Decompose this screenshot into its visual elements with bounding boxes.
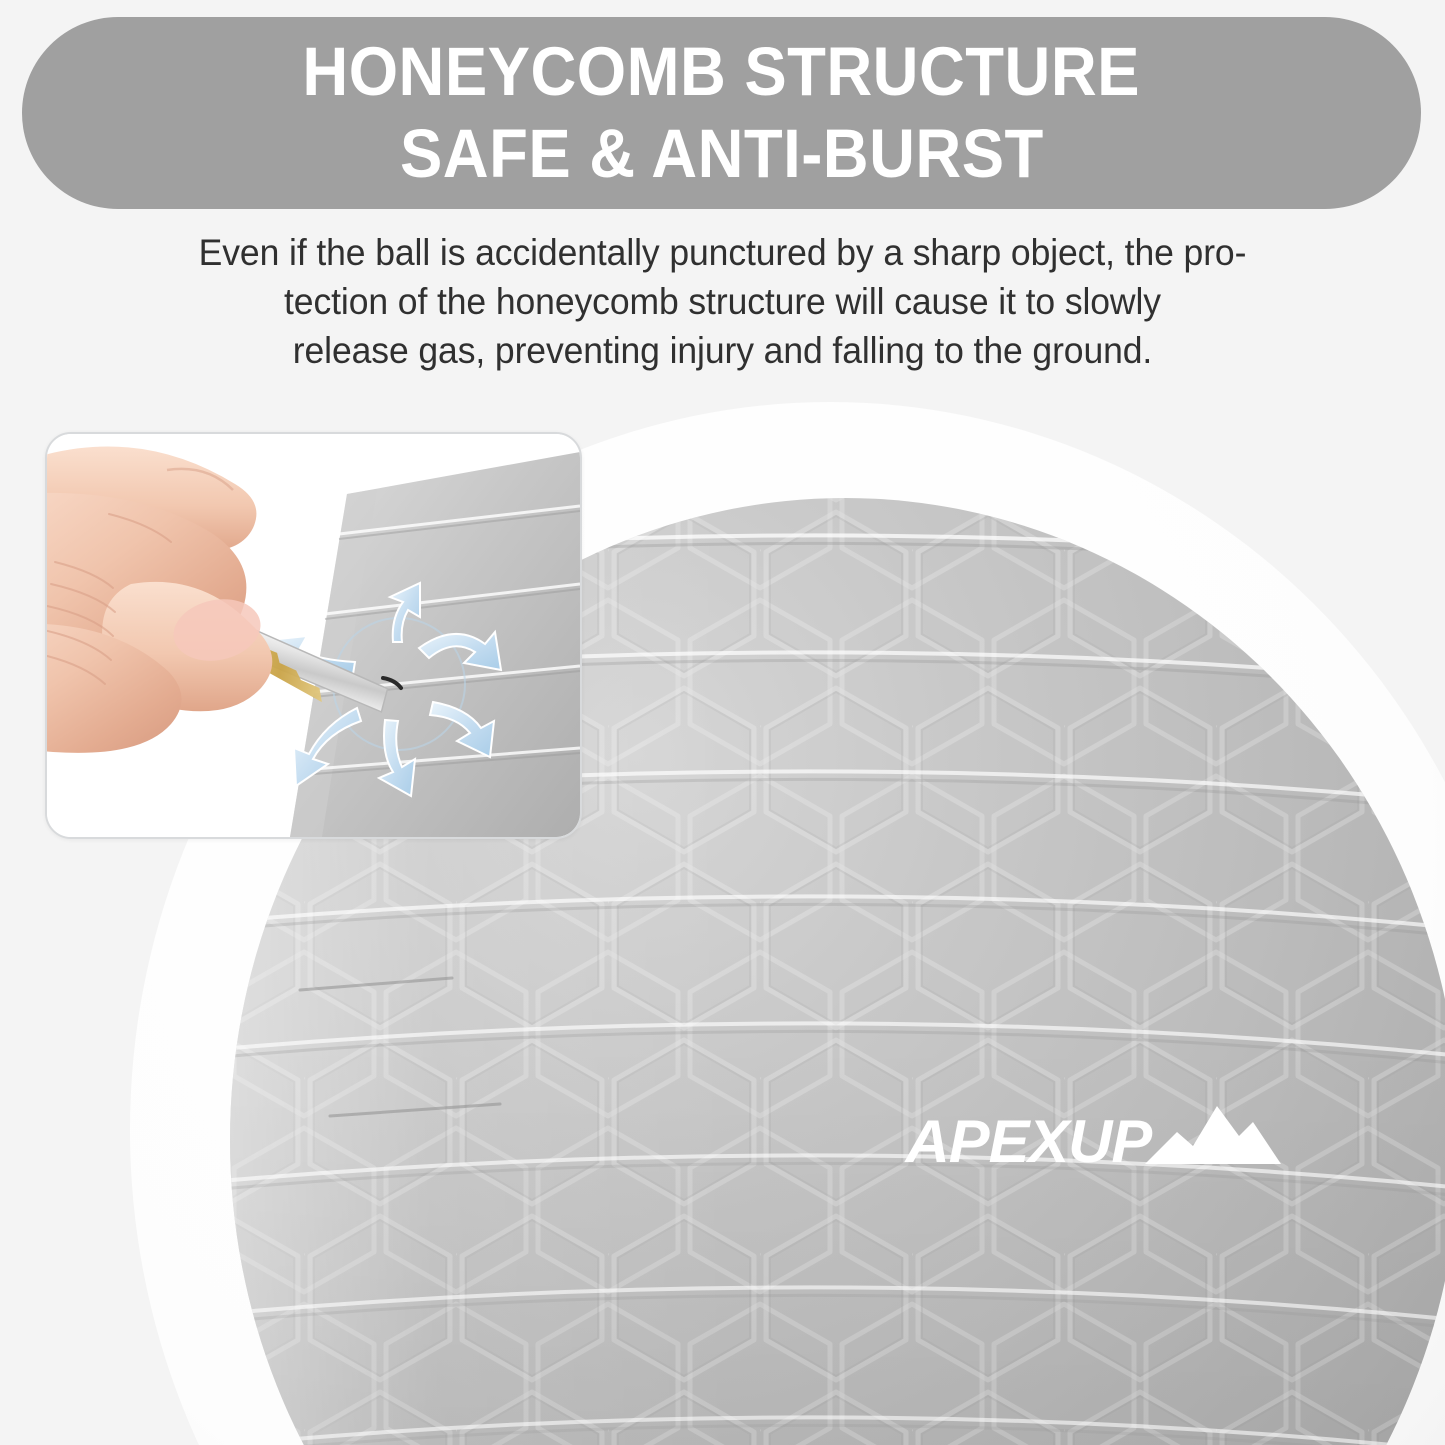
brand-logo: APEXUP <box>908 1098 1283 1172</box>
subtitle-line-2: tection of the honeycomb structure will … <box>29 277 1416 326</box>
mountain-peaks-icon <box>1143 1098 1283 1170</box>
brand-wordmark: APEXUP <box>906 1112 1152 1172</box>
key-puncture-illustration <box>47 434 580 837</box>
headline-line-1: HONEYCOMB STRUCTURE <box>303 31 1141 113</box>
header-banner: HONEYCOMB STRUCTURE SAFE & ANTI-BURST <box>22 17 1421 209</box>
headline-line-2: SAFE & ANTI-BURST <box>400 113 1044 195</box>
key-puncture-demo-card <box>45 432 582 839</box>
product-feature-image: HONEYCOMB STRUCTURE SAFE & ANTI-BURST Ev… <box>0 0 1445 1445</box>
subtitle-line-1: Even if the ball is accidentally punctur… <box>29 228 1416 277</box>
subtitle-line-3: release gas, preventing injury and falli… <box>29 326 1416 375</box>
subtitle-paragraph: Even if the ball is accidentally punctur… <box>0 228 1445 375</box>
